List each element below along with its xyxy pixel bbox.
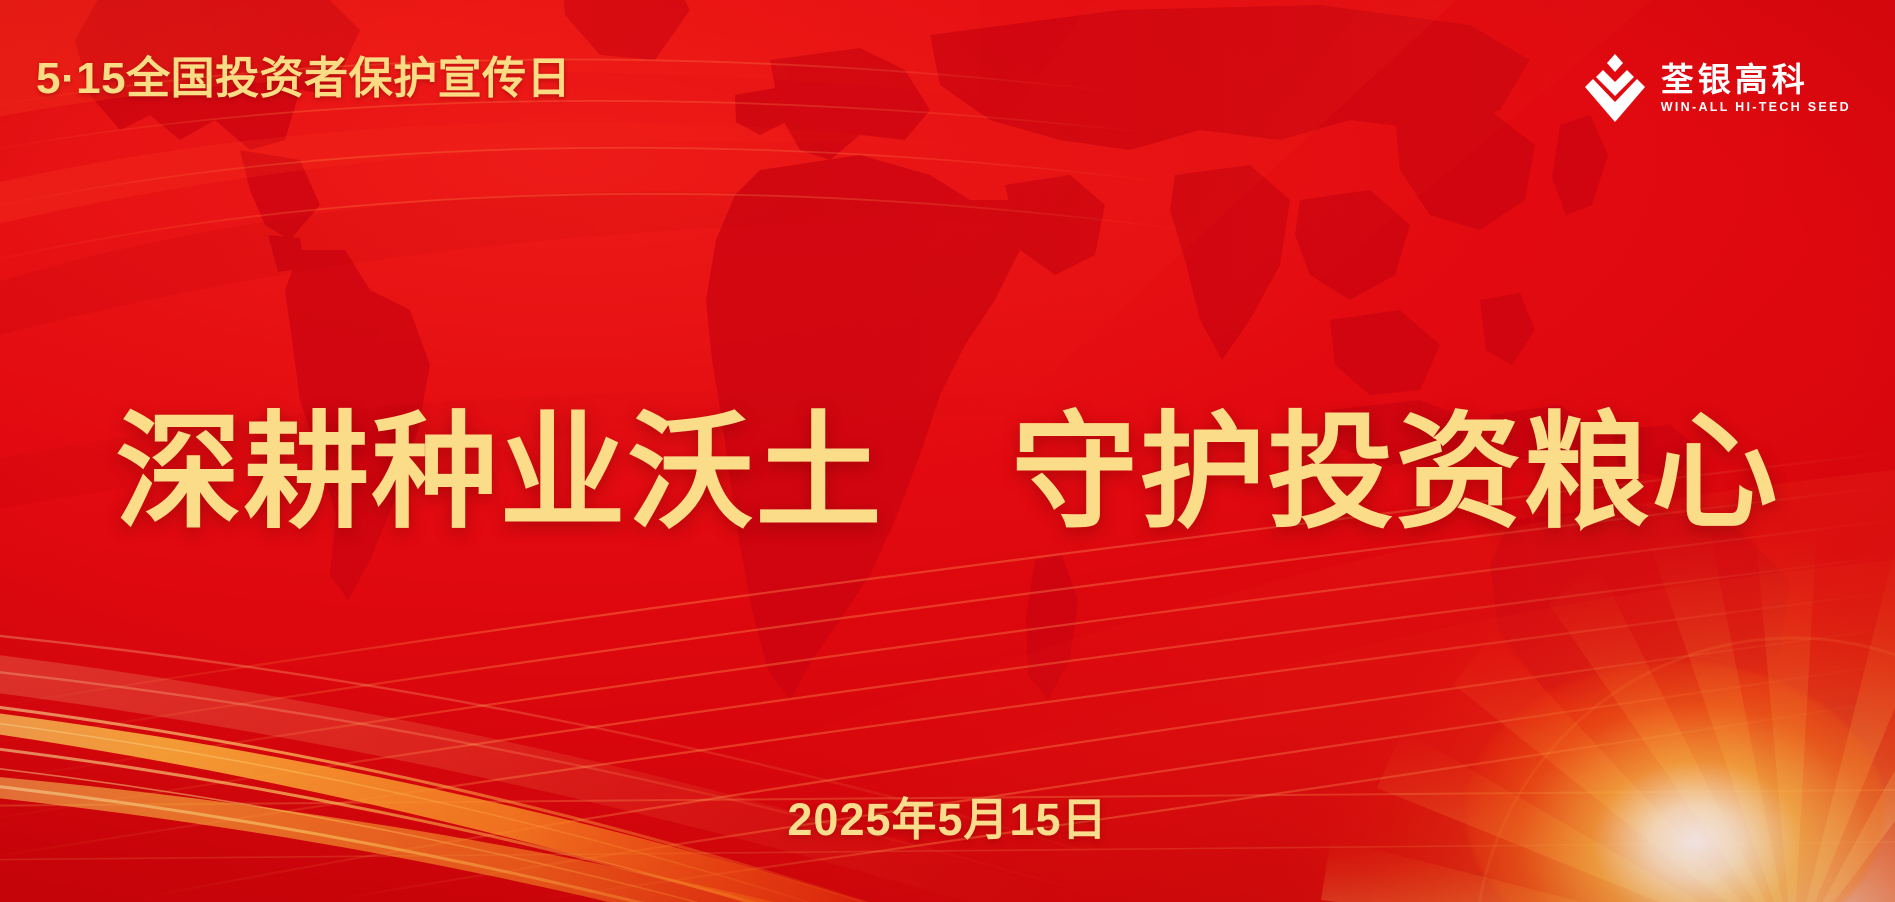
sprout-logo-icon bbox=[1584, 52, 1646, 124]
company-logo: 荃银高科 WIN-ALL HI-TECH SEED bbox=[1584, 52, 1851, 124]
logo-name-en: WIN-ALL HI-TECH SEED bbox=[1661, 101, 1851, 114]
investor-protection-banner: 5·15全国投资者保护宣传日 荃银高科 WIN-AL bbox=[0, 0, 1895, 902]
logo-name-cn: 荃银高科 bbox=[1661, 63, 1851, 96]
event-date: 2025年5月15日 bbox=[0, 797, 1895, 842]
logo-wordmark: 荃银高科 WIN-ALL HI-TECH SEED bbox=[1661, 63, 1851, 114]
banner-content: 5·15全国投资者保护宣传日 荃银高科 WIN-AL bbox=[0, 0, 1895, 902]
main-headline: 深耕种业沃土 守护投资粮心 bbox=[0, 410, 1895, 536]
campaign-slogan: 5·15全国投资者保护宣传日 bbox=[36, 57, 571, 101]
